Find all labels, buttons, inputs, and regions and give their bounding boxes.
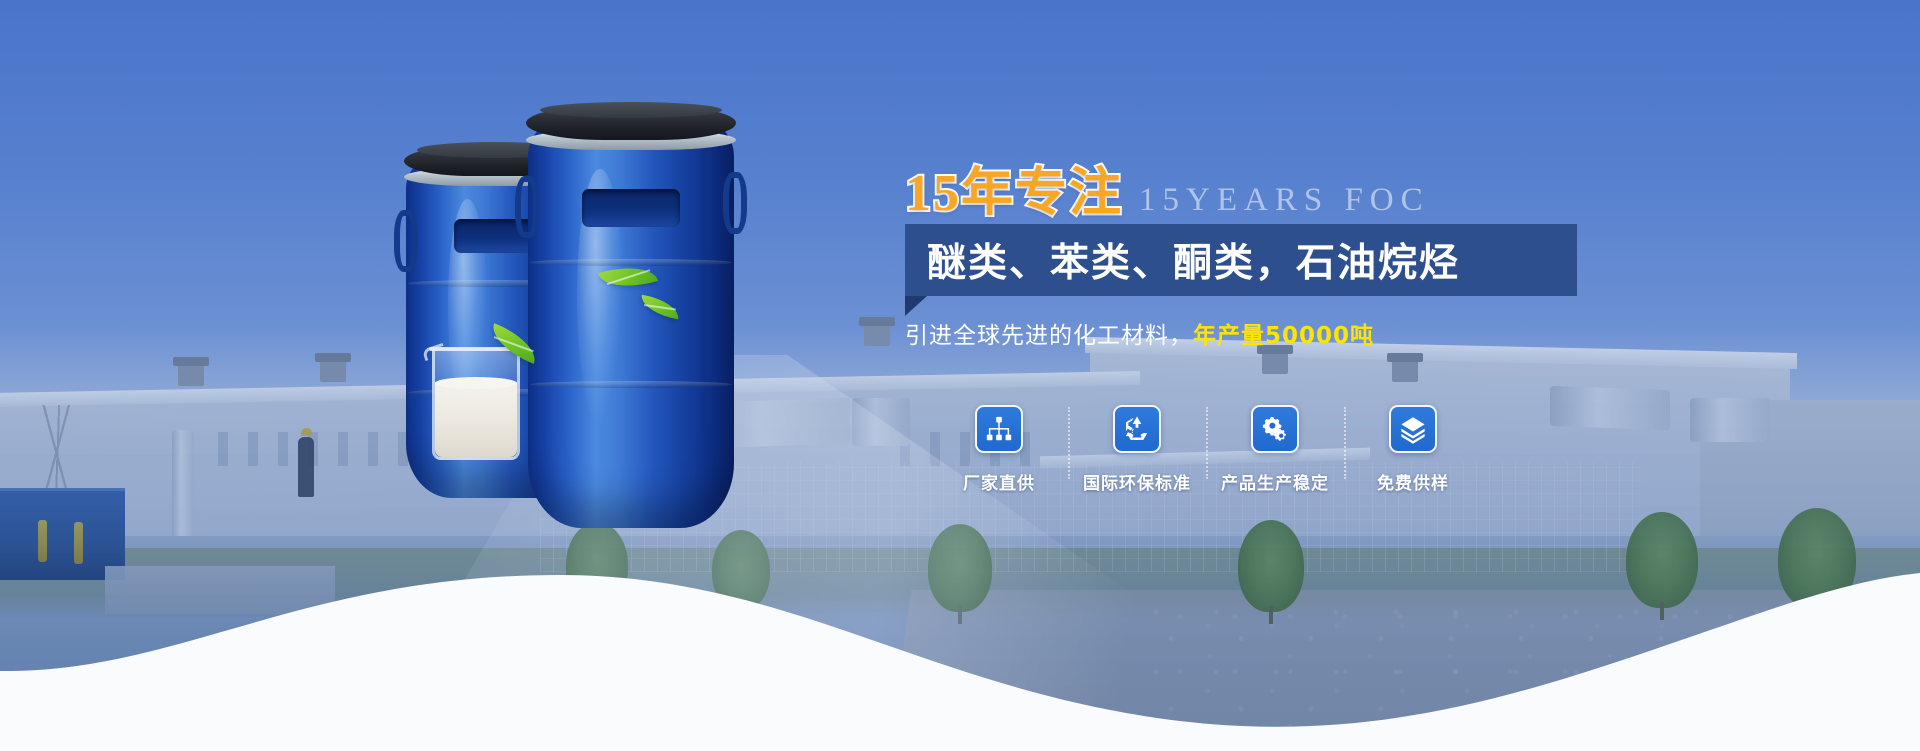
blue-chemical-drum-large — [528, 120, 734, 528]
feature-item-free-sample[interactable]: 免费供样 — [1344, 405, 1482, 494]
bare-tree — [10, 405, 105, 500]
headline-text: 醚类、苯类、酮类，石油烷烃 — [927, 232, 1460, 288]
banner-copy: 15年专注15YEARS FOC 醚类、苯类、酮类，石油烷烃 引进全球先进的化工… — [905, 150, 1605, 350]
subtitle-text: 引进全球先进的化工材料， — [905, 323, 1193, 349]
roof-vent-icon — [320, 360, 346, 382]
white-wave-divider — [0, 561, 1920, 751]
ventilation-duct — [1690, 398, 1770, 442]
years-en-text: 15YEARS FOC — [1139, 182, 1430, 219]
yellow-bollard — [74, 522, 83, 564]
ventilation-duct — [1550, 386, 1670, 430]
open-box-icon — [1389, 405, 1437, 453]
roof-vent-icon — [1262, 352, 1288, 374]
feature-label: 免费供样 — [1377, 469, 1449, 494]
subtitle-highlight: 年产量50000吨 — [1193, 323, 1374, 349]
years-cn-text: 15年专注 — [905, 150, 1123, 225]
recycle-icon — [1113, 405, 1161, 453]
headline-ribbon-tail — [905, 296, 927, 316]
feature-item-stable-production[interactable]: 产品生产稳定 — [1206, 405, 1344, 494]
feature-item-eco-standard[interactable]: 国际环保标准 — [1068, 405, 1206, 494]
gears-icon — [1251, 405, 1299, 453]
subtitle-line: 引进全球先进的化工材料，年产量50000吨 — [905, 316, 1605, 350]
yellow-bollard — [38, 520, 47, 562]
org-chart-icon — [975, 405, 1023, 453]
roof-vent-icon — [864, 324, 890, 346]
feature-label: 厂家直供 — [963, 469, 1035, 494]
headline-container: 醚类、苯类、酮类，石油烷烃 — [905, 224, 1577, 296]
feature-list: 厂家直供 国际环保标准 — [930, 405, 1482, 494]
ventilation-duct — [852, 398, 910, 446]
worker-silhouette — [298, 437, 314, 497]
product-group — [400, 120, 820, 560]
roof-vent-icon — [1392, 360, 1418, 382]
hero-banner: 15年专注15YEARS FOC 醚类、苯类、酮类，石油烷烃 引进全球先进的化工… — [0, 0, 1920, 751]
feature-label: 产品生产稳定 — [1221, 469, 1329, 494]
feature-item-factory-direct[interactable]: 厂家直供 — [930, 405, 1068, 494]
roof-vent-icon — [178, 364, 204, 386]
laboratory-beaker-white-liquid — [432, 348, 520, 460]
years-line: 15年专注15YEARS FOC — [905, 150, 1605, 212]
feature-label: 国际环保标准 — [1083, 469, 1191, 494]
